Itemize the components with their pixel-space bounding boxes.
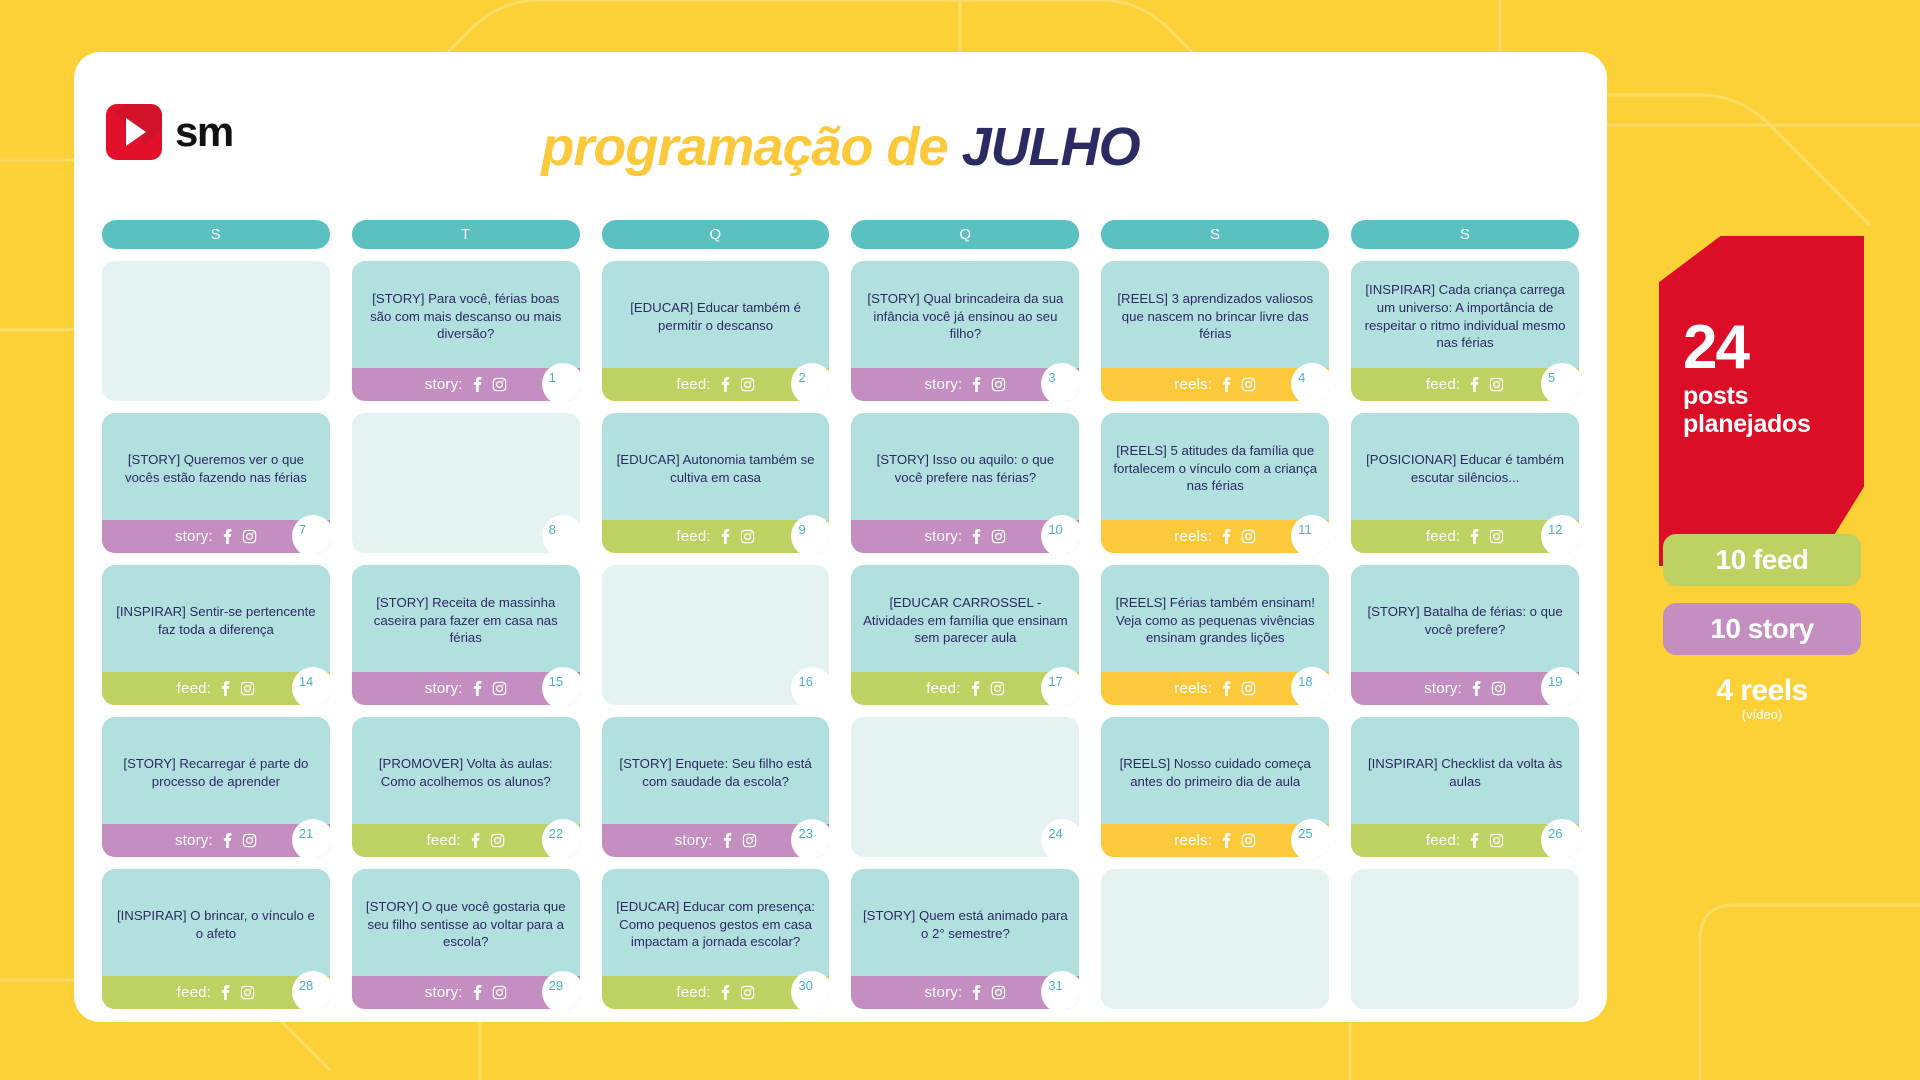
card-type-label: feed:: [177, 680, 211, 697]
facebook-icon[interactable]: [220, 833, 235, 848]
instagram-icon[interactable]: [242, 833, 257, 848]
summary-story-pill: 10 story: [1663, 603, 1861, 655]
day-number: 11: [1291, 515, 1329, 553]
calendar-cell: [STORY] O que você gostaria que seu filh…: [352, 869, 580, 1009]
summary-reels-sub: (vídeo): [1663, 707, 1861, 722]
calendar-cell: [1351, 869, 1579, 1009]
card-text: [INSPIRAR] Checklist da volta às aulas: [1351, 717, 1579, 824]
day-number: 2: [791, 363, 829, 401]
day-number: 31: [1041, 971, 1079, 1009]
calendar-card[interactable]: [EDUCAR] Autonomia também se cultiva em …: [602, 413, 830, 553]
calendar-card[interactable]: [STORY] Enquete: Seu filho está com saud…: [602, 717, 830, 857]
calendar-cell: [STORY] Enquete: Seu filho está com saud…: [602, 717, 830, 857]
weekday-header: S: [1351, 220, 1579, 249]
card-type-label: feed:: [676, 528, 710, 545]
card-type-label: story:: [175, 832, 213, 849]
calendar-cell: [EDUCAR CARROSSEL - Atividades em famíli…: [851, 565, 1079, 705]
instagram-icon[interactable]: [740, 377, 755, 392]
calendar-card[interactable]: [EDUCAR] Educar também é permitir o desc…: [602, 261, 830, 401]
card-text: [INSPIRAR] O brincar, o vínculo e o afet…: [102, 869, 330, 976]
facebook-icon[interactable]: [968, 681, 983, 696]
card-type-label: story:: [675, 832, 713, 849]
facebook-icon[interactable]: [1219, 529, 1234, 544]
facebook-icon[interactable]: [470, 681, 485, 696]
calendar-card[interactable]: [REELS] 3 aprendizados valiosos que nasc…: [1101, 261, 1329, 401]
instagram-icon[interactable]: [1241, 833, 1256, 848]
instagram-icon[interactable]: [742, 833, 757, 848]
instagram-icon[interactable]: [991, 985, 1006, 1000]
calendar-card[interactable]: [PROMOVER] Volta às aulas: Como acolhemo…: [352, 717, 580, 857]
card-text: [STORY] Recarregar é parte do processo d…: [102, 717, 330, 824]
instagram-icon[interactable]: [492, 681, 507, 696]
card-text: [STORY] Queremos ver o que vocês estão f…: [102, 413, 330, 520]
day-number: 10: [1041, 515, 1079, 553]
facebook-icon[interactable]: [468, 833, 483, 848]
card-type-label: story:: [425, 376, 463, 393]
weekday-header: Q: [602, 220, 830, 249]
instagram-icon[interactable]: [492, 377, 507, 392]
card-type-label: story:: [425, 984, 463, 1001]
card-text: [STORY] Para você, férias boas são com m…: [352, 261, 580, 368]
calendar-cell: [POSICIONAR] Educar é também escutar sil…: [1351, 413, 1579, 553]
card-text: [INSPIRAR] Sentir-se pertencente faz tod…: [102, 565, 330, 672]
instagram-icon[interactable]: [991, 529, 1006, 544]
card-text: [STORY] Batalha de férias: o que você pr…: [1351, 565, 1579, 672]
instagram-icon[interactable]: [1241, 681, 1256, 696]
calendar-cell: [EDUCAR] Educar com presença: Como peque…: [602, 869, 830, 1009]
facebook-icon[interactable]: [969, 985, 984, 1000]
card-type-label: story:: [924, 984, 962, 1001]
day-number: 1: [542, 363, 580, 401]
calendar-cell: [102, 261, 330, 401]
calendar-card[interactable]: [EDUCAR] Educar com presença: Como peque…: [602, 869, 830, 1009]
calendar-card-empty[interactable]: [1351, 869, 1579, 1009]
calendar-cell: [PROMOVER] Volta às aulas: Como acolhemo…: [352, 717, 580, 857]
calendar-cell: [STORY] Para você, férias boas são com m…: [352, 261, 580, 401]
calendar-card[interactable]: [STORY] Para você, férias boas são com m…: [352, 261, 580, 401]
calendar-board: sm programação de JULHO STQQSS[STORY] Pa…: [74, 52, 1607, 1022]
page-title-part2: JULHO: [962, 117, 1140, 177]
card-text: [EDUCAR] Educar também é permitir o desc…: [602, 261, 830, 368]
calendar-card[interactable]: [INSPIRAR] Cada criança carrega um unive…: [1351, 261, 1579, 401]
summary-reels-note: 4 reels (vídeo): [1663, 676, 1861, 722]
calendar-cell: [REELS] Férias também ensinam! Veja como…: [1101, 565, 1329, 705]
facebook-icon[interactable]: [1467, 529, 1482, 544]
calendar-cell: 16: [602, 565, 830, 705]
card-text: [EDUCAR] Educar com presença: Como peque…: [602, 869, 830, 976]
instagram-icon[interactable]: [1491, 681, 1506, 696]
day-number: 7: [292, 515, 330, 553]
card-text: [REELS] 3 aprendizados valiosos que nasc…: [1101, 261, 1329, 368]
summary-caption-line1: posts: [1683, 382, 1811, 410]
card-type-label: feed:: [1426, 376, 1460, 393]
day-number: 16: [791, 667, 829, 705]
card-type-label: reels:: [1174, 680, 1212, 697]
card-type-label: story:: [1424, 680, 1462, 697]
calendar-card[interactable]: [STORY] Isso ou aquilo: o que você prefe…: [851, 413, 1079, 553]
day-number: 17: [1041, 667, 1079, 705]
facebook-icon[interactable]: [218, 681, 233, 696]
card-text: [PROMOVER] Volta às aulas: Como acolhemo…: [352, 717, 580, 824]
card-type-label: story:: [175, 528, 213, 545]
card-type-label: feed:: [676, 984, 710, 1001]
page-title-part1: programação de: [541, 117, 947, 177]
summary-caption: posts planejados: [1683, 382, 1811, 438]
summary-reels-count: 4 reels: [1663, 676, 1861, 706]
facebook-icon[interactable]: [1219, 833, 1234, 848]
day-number: 24: [1041, 819, 1079, 857]
day-number: 26: [1541, 819, 1579, 857]
facebook-icon[interactable]: [1219, 681, 1234, 696]
calendar-cell: [INSPIRAR] Cada criança carrega um unive…: [1351, 261, 1579, 401]
calendar-card[interactable]: [STORY] Recarregar é parte do processo d…: [102, 717, 330, 857]
day-number: 18: [1291, 667, 1329, 705]
weekday-header: S: [102, 220, 330, 249]
day-number: 8: [542, 515, 580, 553]
card-type-label: story:: [425, 680, 463, 697]
card-text: [POSICIONAR] Educar é também escutar sil…: [1351, 413, 1579, 520]
summary-feed-pill: 10 feed: [1663, 534, 1861, 586]
calendar-card-empty[interactable]: [102, 261, 330, 401]
card-text: [STORY] Receita de massinha caseira para…: [352, 565, 580, 672]
calendar-cell: [STORY] Receita de massinha caseira para…: [352, 565, 580, 705]
calendar-card[interactable]: [POSICIONAR] Educar é também escutar sil…: [1351, 413, 1579, 553]
facebook-icon[interactable]: [1467, 833, 1482, 848]
facebook-icon[interactable]: [969, 529, 984, 544]
calendar-cell: [STORY] Quem está animado para o 2° seme…: [851, 869, 1079, 1009]
card-text: [REELS] Nosso cuidado começa antes do pr…: [1101, 717, 1329, 824]
instagram-icon[interactable]: [740, 985, 755, 1000]
calendar-card[interactable]: [REELS] Férias também ensinam! Veja como…: [1101, 565, 1329, 705]
card-type-label: reels:: [1174, 832, 1212, 849]
calendar-card[interactable]: [STORY] Quem está animado para o 2° seme…: [851, 869, 1079, 1009]
calendar-card[interactable]: [INSPIRAR] Checklist da volta às aulasfe…: [1351, 717, 1579, 857]
card-text: [REELS] 5 atitudes da família que fortal…: [1101, 413, 1329, 520]
day-number: 15: [542, 667, 580, 705]
calendar-cell: [REELS] Nosso cuidado começa antes do pr…: [1101, 717, 1329, 857]
card-type-label: story:: [924, 376, 962, 393]
calendar-cell: [REELS] 3 aprendizados valiosos que nasc…: [1101, 261, 1329, 401]
page-title: programação de JULHO: [74, 52, 1607, 178]
facebook-icon[interactable]: [720, 833, 735, 848]
summary-count: 24: [1683, 320, 1811, 376]
calendar-cell: [INSPIRAR] Sentir-se pertencente faz tod…: [102, 565, 330, 705]
calendar-cell: [EDUCAR] Autonomia também se cultiva em …: [602, 413, 830, 553]
card-text: [EDUCAR] Autonomia também se cultiva em …: [602, 413, 830, 520]
calendar-grid: STQQSS[STORY] Para você, férias boas são…: [102, 220, 1579, 1009]
facebook-icon[interactable]: [470, 985, 485, 1000]
facebook-icon[interactable]: [1467, 377, 1482, 392]
day-number: 12: [1541, 515, 1579, 553]
day-number: 19: [1541, 667, 1579, 705]
calendar-cell: [INSPIRAR] O brincar, o vínculo e o afet…: [102, 869, 330, 1009]
facebook-icon[interactable]: [718, 529, 733, 544]
calendar-cell: [INSPIRAR] Checklist da volta às aulasfe…: [1351, 717, 1579, 857]
instagram-icon[interactable]: [1489, 529, 1504, 544]
card-text: [EDUCAR CARROSSEL - Atividades em famíli…: [851, 565, 1079, 672]
card-type-label: feed:: [926, 680, 960, 697]
card-type-label: feed:: [676, 376, 710, 393]
calendar-cell: 8: [352, 413, 580, 553]
calendar-card[interactable]: [INSPIRAR] Sentir-se pertencente faz tod…: [102, 565, 330, 705]
instagram-icon[interactable]: [492, 985, 507, 1000]
instagram-icon[interactable]: [991, 377, 1006, 392]
day-number: 23: [791, 819, 829, 857]
facebook-icon[interactable]: [969, 377, 984, 392]
facebook-icon[interactable]: [1219, 377, 1234, 392]
instagram-icon[interactable]: [1489, 833, 1504, 848]
calendar-cell: [STORY] Recarregar é parte do processo d…: [102, 717, 330, 857]
calendar-card-empty[interactable]: 8: [352, 413, 580, 553]
card-type-label: reels:: [1174, 528, 1212, 545]
card-text: [STORY] Enquete: Seu filho está com saud…: [602, 717, 830, 824]
calendar-cell: [STORY] Queremos ver o que vocês estão f…: [102, 413, 330, 553]
card-type-label: feed:: [427, 832, 461, 849]
card-type-label: feed:: [1426, 528, 1460, 545]
facebook-icon[interactable]: [1469, 681, 1484, 696]
summary-content: 24 posts planejados: [1683, 320, 1811, 438]
card-text: [STORY] Isso ou aquilo: o que você prefe…: [851, 413, 1079, 520]
card-type-label: reels:: [1174, 376, 1212, 393]
facebook-icon[interactable]: [718, 985, 733, 1000]
instagram-icon[interactable]: [242, 529, 257, 544]
day-number: 5: [1541, 363, 1579, 401]
calendar-card[interactable]: [STORY] Qual brincadeira da sua infância…: [851, 261, 1079, 401]
calendar-cell: [STORY] Batalha de férias: o que você pr…: [1351, 565, 1579, 705]
day-number: 21: [292, 819, 330, 857]
instagram-icon[interactable]: [240, 985, 255, 1000]
calendar-cell: 24: [851, 717, 1079, 857]
calendar-card[interactable]: [EDUCAR CARROSSEL - Atividades em famíli…: [851, 565, 1079, 705]
instagram-icon[interactable]: [740, 529, 755, 544]
calendar-card[interactable]: [STORY] O que você gostaria que seu filh…: [352, 869, 580, 1009]
calendar-card[interactable]: [REELS] Nosso cuidado começa antes do pr…: [1101, 717, 1329, 857]
day-number: 30: [791, 971, 829, 1009]
instagram-icon[interactable]: [1241, 377, 1256, 392]
day-number: 28: [292, 971, 330, 1009]
calendar-card-empty[interactable]: [1101, 869, 1329, 1009]
calendar-cell: [REELS] 5 atitudes da família que fortal…: [1101, 413, 1329, 553]
weekday-header: T: [352, 220, 580, 249]
day-number: 22: [542, 819, 580, 857]
calendar-card[interactable]: [STORY] Receita de massinha caseira para…: [352, 565, 580, 705]
card-text: [STORY] O que você gostaria que seu filh…: [352, 869, 580, 976]
day-number: 3: [1041, 363, 1079, 401]
instagram-icon[interactable]: [240, 681, 255, 696]
summary-caption-line2: planejados: [1683, 410, 1811, 438]
instagram-icon[interactable]: [990, 681, 1005, 696]
calendar-card[interactable]: [REELS] 5 atitudes da família que fortal…: [1101, 413, 1329, 553]
calendar-cell: [STORY] Isso ou aquilo: o que você prefe…: [851, 413, 1079, 553]
calendar-cell: [EDUCAR] Educar também é permitir o desc…: [602, 261, 830, 401]
card-type-label: feed:: [1426, 832, 1460, 849]
facebook-icon[interactable]: [218, 985, 233, 1000]
instagram-icon[interactable]: [490, 833, 505, 848]
weekday-header: Q: [851, 220, 1079, 249]
calendar-cell: [1101, 869, 1329, 1009]
calendar-card-empty[interactable]: 24: [851, 717, 1079, 857]
card-text: [STORY] Quem está animado para o 2° seme…: [851, 869, 1079, 976]
day-number: 4: [1291, 363, 1329, 401]
facebook-icon[interactable]: [470, 377, 485, 392]
day-number: 14: [292, 667, 330, 705]
card-type-label: story:: [924, 528, 962, 545]
calendar-card-empty[interactable]: 16: [602, 565, 830, 705]
facebook-icon[interactable]: [718, 377, 733, 392]
summary-panel: 24 posts planejados: [1659, 236, 1864, 566]
calendar-card[interactable]: [INSPIRAR] O brincar, o vínculo e o afet…: [102, 869, 330, 1009]
day-number: 9: [791, 515, 829, 553]
weekday-header: S: [1101, 220, 1329, 249]
calendar-cell: [STORY] Qual brincadeira da sua infância…: [851, 261, 1079, 401]
day-number: 29: [542, 971, 580, 1009]
card-text: [INSPIRAR] Cada criança carrega um unive…: [1351, 261, 1579, 368]
instagram-icon[interactable]: [1489, 377, 1504, 392]
day-number: 25: [1291, 819, 1329, 857]
board-header: sm programação de JULHO: [74, 52, 1607, 194]
calendar-card[interactable]: [STORY] Batalha de férias: o que você pr…: [1351, 565, 1579, 705]
card-text: [STORY] Qual brincadeira da sua infância…: [851, 261, 1079, 368]
card-text: [REELS] Férias também ensinam! Veja como…: [1101, 565, 1329, 672]
calendar-card[interactable]: [STORY] Queremos ver o que vocês estão f…: [102, 413, 330, 553]
instagram-icon[interactable]: [1241, 529, 1256, 544]
card-type-label: feed:: [177, 984, 211, 1001]
facebook-icon[interactable]: [220, 529, 235, 544]
